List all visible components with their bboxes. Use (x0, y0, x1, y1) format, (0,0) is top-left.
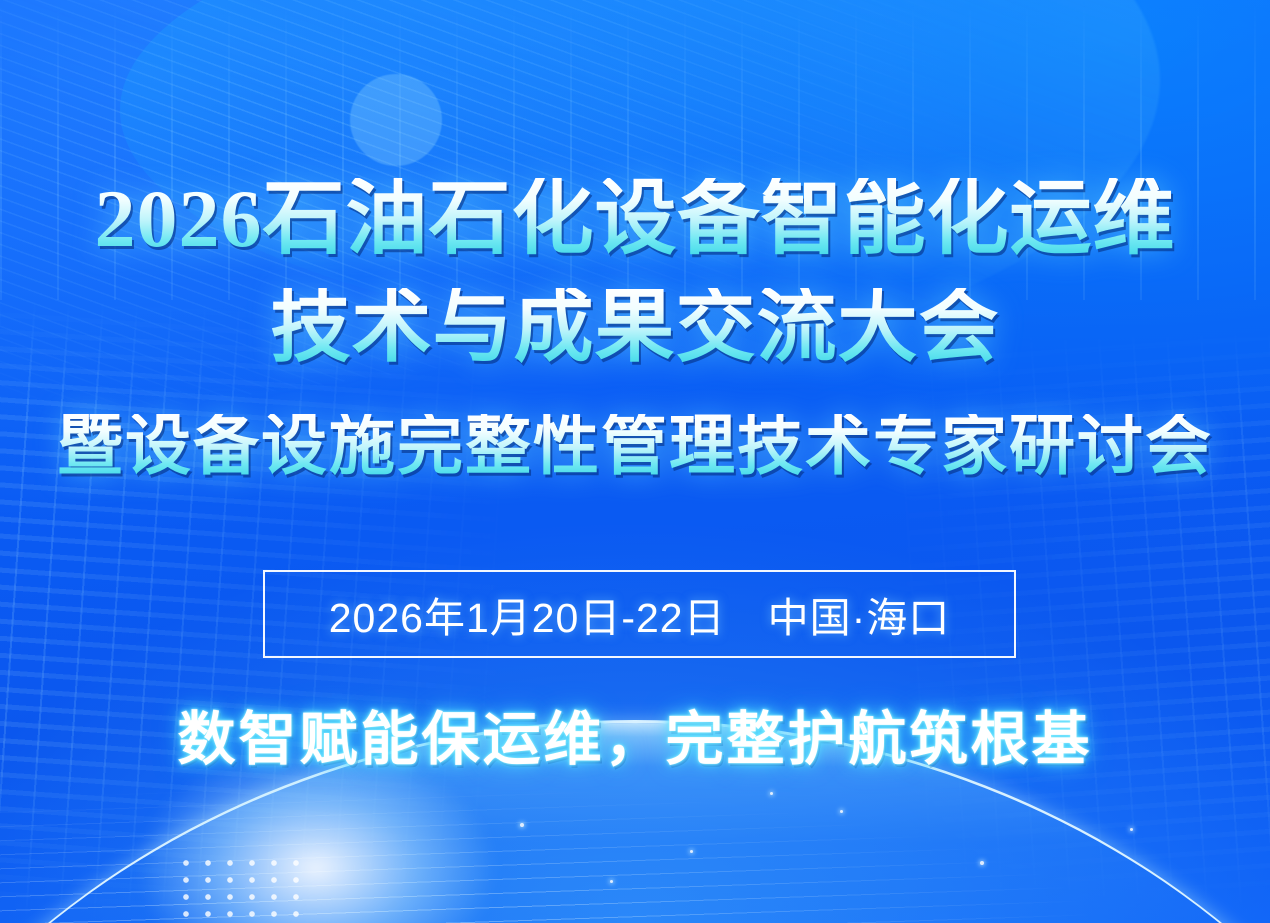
poster-banner: 2026石油石化设备智能化运维 技术与成果交流大会 暨设备设施完整性管理技术专家… (0, 0, 1270, 923)
date-location-box: 2026年1月20日-22日 中国·海口 (263, 570, 1016, 658)
slogan-text: 数智赋能保运维，完整护航筑根基 (0, 692, 1270, 776)
title-line-3-subtitle: 暨设备设施完整性管理技术专家研讨会 (0, 414, 1270, 480)
date-location-text: 2026年1月20日-22日 中国·海口 (329, 584, 951, 644)
title-line-2: 技术与成果交流大会 (0, 288, 1270, 368)
title-line-1: 2026石油石化设备智能化运维 (0, 178, 1270, 260)
poster-content: 2026石油石化设备智能化运维 技术与成果交流大会 暨设备设施完整性管理技术专家… (0, 0, 1270, 923)
